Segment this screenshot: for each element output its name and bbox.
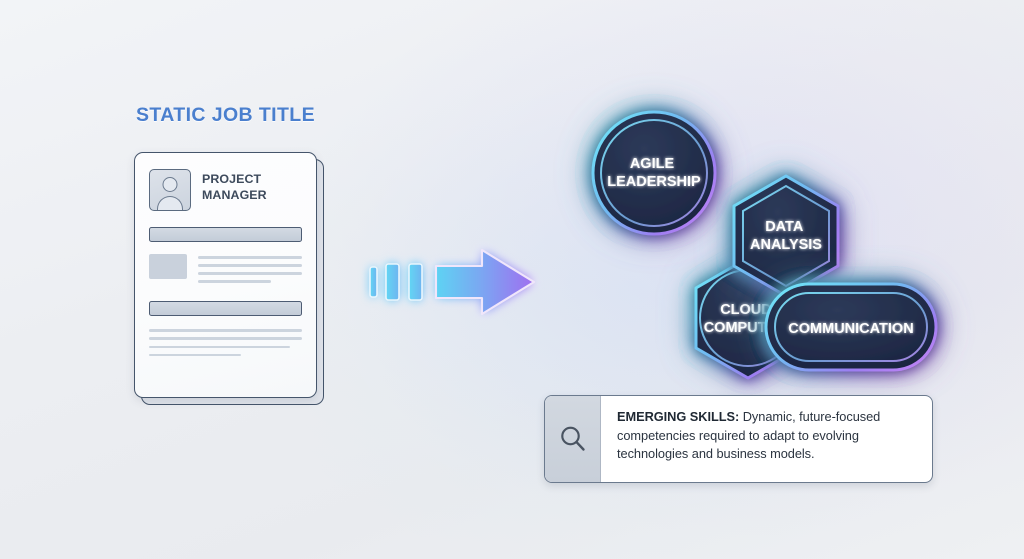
role-line-2: MANAGER	[202, 187, 267, 203]
arrow-dashes	[370, 264, 422, 300]
avatar-head-shape	[163, 177, 178, 192]
document-text-line	[198, 272, 302, 275]
caption-label: EMERGING SKILLS:	[617, 409, 739, 424]
document-section-bar-2	[149, 301, 302, 316]
role-line-1: PROJECT	[202, 171, 267, 187]
document-text-line	[198, 264, 302, 267]
person-avatar-icon	[149, 169, 191, 211]
arrow-head-icon	[436, 250, 534, 314]
static-job-title-heading: STATIC JOB TITLE	[136, 104, 370, 127]
document-text-lines-group-1	[198, 254, 302, 288]
cloud-line-1: CLOUD	[720, 302, 772, 318]
document-text-line	[149, 329, 302, 332]
document-text-line	[198, 280, 271, 283]
skill-badge-agile-leadership[interactable]	[593, 112, 715, 234]
transformation-arrow	[362, 243, 548, 321]
emerging-skills-cluster: CLOUD COMPUTING DATA ANALYSIS AGILE LEAD…	[552, 88, 972, 388]
document-role-title: PROJECT MANAGER	[202, 169, 267, 204]
document-text-line	[149, 337, 302, 340]
document-front-page: PROJECT MANAGER	[134, 152, 317, 398]
document-section-bar-1	[149, 227, 302, 242]
document-image-placeholder	[149, 254, 187, 279]
document-text-lines-group-2	[149, 329, 302, 356]
document-text-line	[149, 346, 290, 349]
agile-line-1: AGILE	[630, 156, 675, 172]
skill-label-communication: COMMUNICATION	[788, 321, 913, 337]
static-job-title-section: STATIC JOB TITLE	[120, 104, 370, 127]
data-line-2: ANALYSIS	[750, 237, 822, 253]
agile-line-2: LEADERSHIP	[607, 174, 701, 190]
document-text-line	[198, 256, 302, 259]
document-text-line	[149, 354, 241, 357]
caption-body: EMERGING SKILLS: Dynamic, future-focused…	[601, 396, 932, 482]
document-header: PROJECT MANAGER	[149, 169, 302, 211]
data-line-1: DATA	[765, 219, 804, 235]
resume-document: PROJECT MANAGER	[134, 152, 324, 405]
document-content-row	[149, 254, 302, 288]
avatar-body-shape	[157, 196, 183, 211]
magnifier-icon	[545, 396, 601, 482]
emerging-skills-caption: EMERGING SKILLS: Dynamic, future-focused…	[544, 395, 933, 483]
infographic-canvas: STATIC JOB TITLE PROJECT MANAGER	[0, 0, 1024, 559]
